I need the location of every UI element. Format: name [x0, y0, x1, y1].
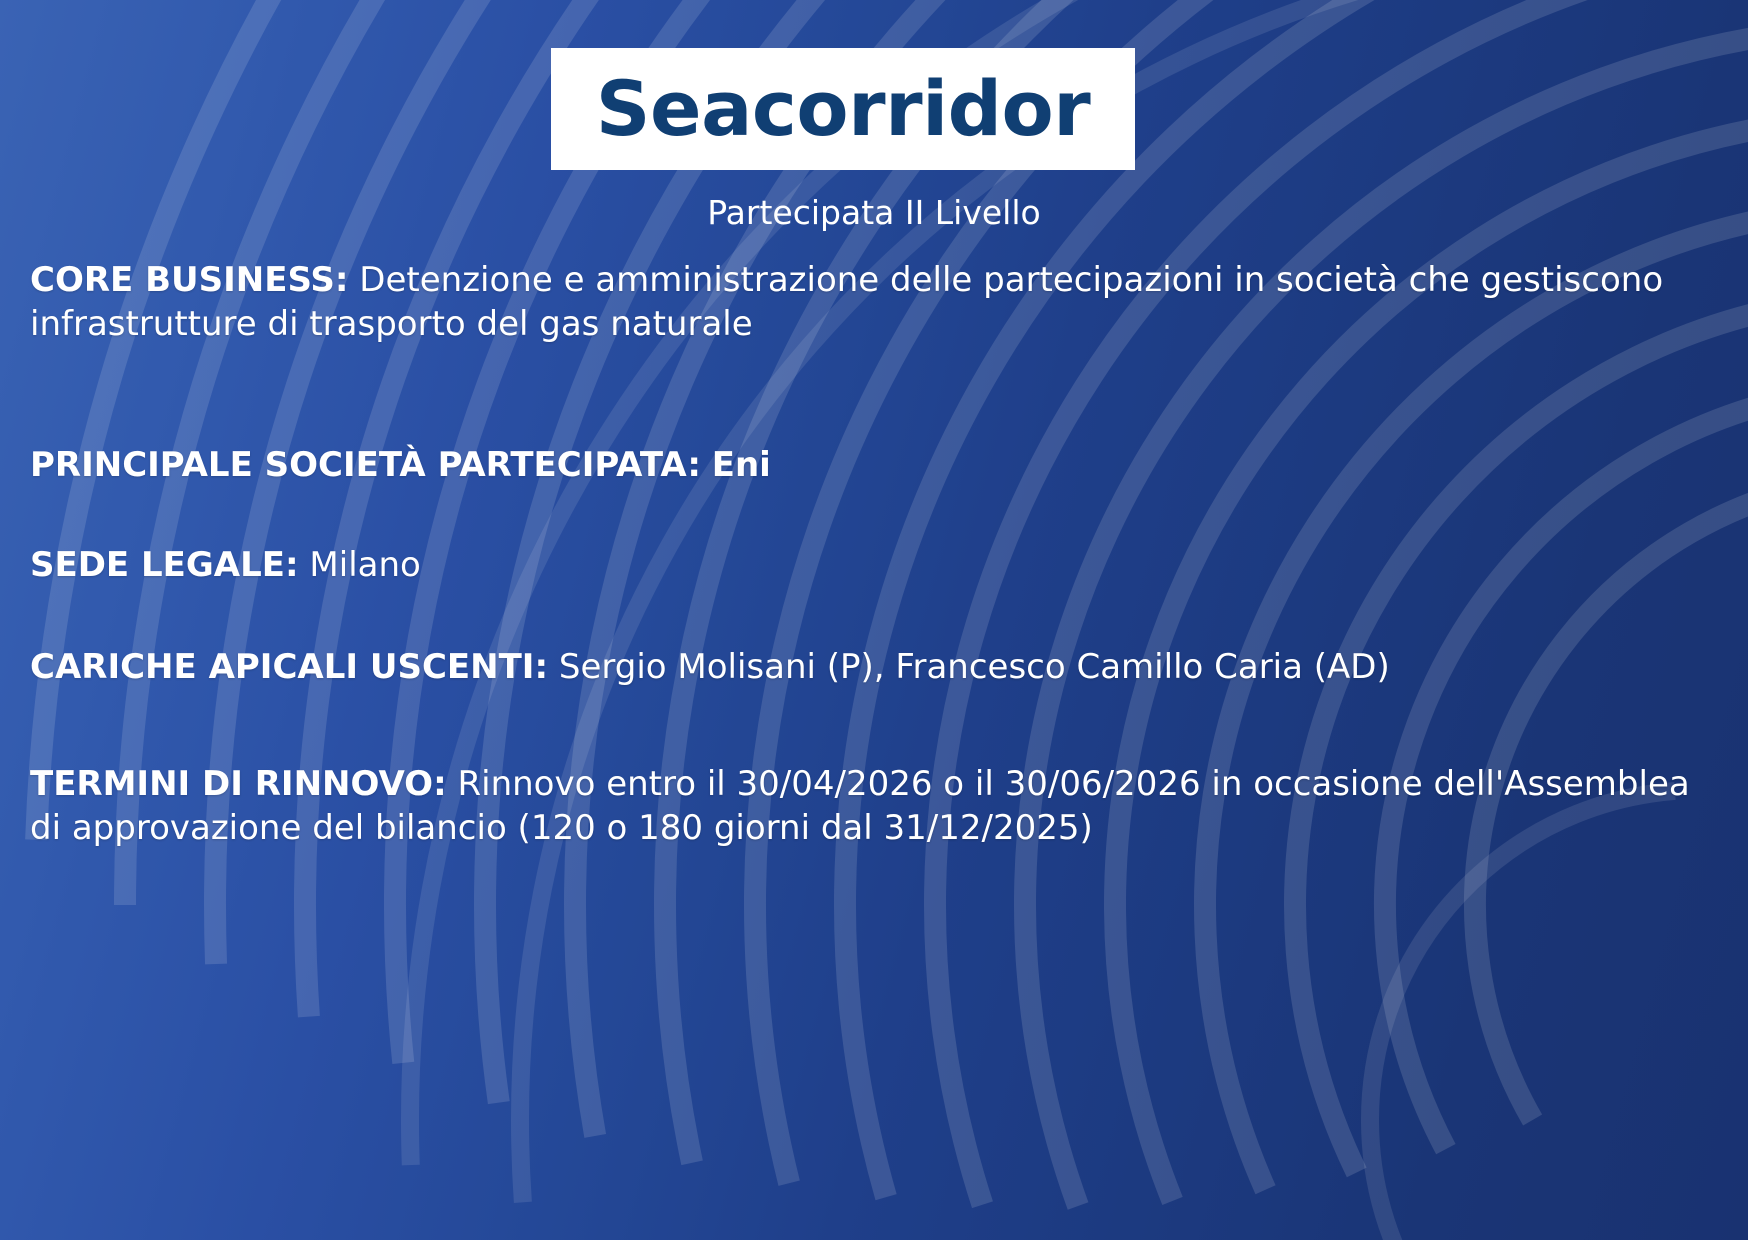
field-sede-legale: SEDE LEGALE: Milano	[30, 543, 1718, 587]
slide-subtitle: Partecipata II Livello	[0, 193, 1748, 232]
field-cariche-apicali-uscenti: CARICHE APICALI USCENTI: Sergio Molisani…	[30, 645, 1718, 689]
field-core-business: CORE BUSINESS: Detenzione e amministrazi…	[30, 258, 1718, 346]
title-box: Seacorridor	[551, 48, 1135, 170]
field-sede-legale-label: SEDE LEGALE:	[30, 545, 299, 585]
field-sede-legale-value: Milano	[309, 545, 420, 585]
slide-content: Seacorridor Partecipata II Livello CORE …	[0, 0, 1748, 1240]
field-cariche-apicali-uscenti-label: CARICHE APICALI USCENTI:	[30, 647, 548, 687]
field-principale-societa-partecipata-label: PRINCIPALE SOCIETÀ PARTECIPATA:	[30, 445, 701, 485]
field-termini-di-rinnovo-label: TERMINI DI RINNOVO:	[30, 764, 447, 804]
field-principale-societa-partecipata: PRINCIPALE SOCIETÀ PARTECIPATA: Eni	[30, 443, 1718, 487]
field-termini-di-rinnovo: TERMINI DI RINNOVO: Rinnovo entro il 30/…	[30, 762, 1718, 850]
field-core-business-label: CORE BUSINESS:	[30, 260, 348, 300]
field-cariche-apicali-uscenti-value: Sergio Molisani (P), Francesco Camillo C…	[559, 647, 1390, 687]
field-principale-societa-partecipata-value: Eni	[712, 445, 771, 485]
page-title: Seacorridor	[596, 71, 1090, 147]
slide-root: Seacorridor Partecipata II Livello CORE …	[0, 0, 1748, 1240]
